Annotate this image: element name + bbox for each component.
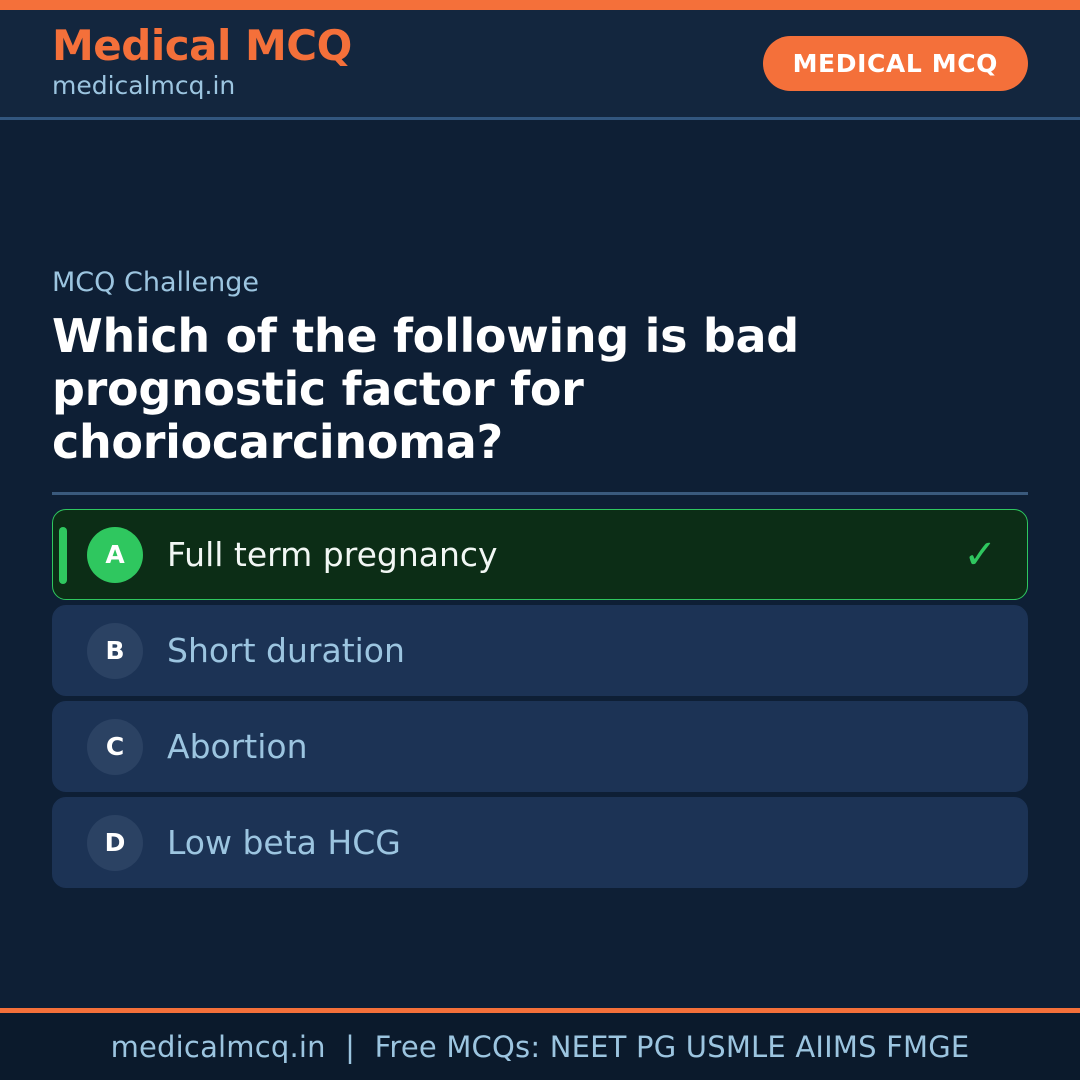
option-b[interactable]: B Short duration [52,605,1028,696]
options-list: A Full term pregnancy ✓ B Short duration… [52,509,1028,888]
option-letter-badge: A [87,527,143,583]
footer-links-label: Free MCQs: NEET PG USMLE AIIMS FMGE [375,1030,970,1064]
question-text: Which of the following is bad prognostic… [52,310,912,469]
section-kicker: MCQ Challenge [52,267,1028,299]
brand-block: Medical MCQ medicalmcq.in [52,24,352,103]
brand-subtitle: medicalmcq.in [52,70,352,103]
footer-site: medicalmcq.in [111,1030,326,1064]
header: Medical MCQ medicalmcq.in MEDICAL MCQ [0,10,1080,120]
top-accent-bar [0,0,1080,10]
footer-separator: | [335,1030,365,1064]
header-badge: MEDICAL MCQ [763,36,1028,91]
option-label: Full term pregnancy [167,535,963,575]
brand-title: Medical MCQ [52,24,352,68]
main-content: MCQ Challenge Which of the following is … [0,120,1080,1008]
correct-accent-bar [59,527,67,584]
footer: medicalmcq.in | Free MCQs: NEET PG USMLE… [0,1008,1080,1080]
option-letter-badge: C [87,719,143,775]
option-d[interactable]: D Low beta HCG [52,797,1028,888]
option-label: Abortion [167,727,997,767]
question-divider [52,492,1028,495]
mcq-card: Medical MCQ medicalmcq.in MEDICAL MCQ MC… [0,0,1080,1080]
option-letter-badge: B [87,623,143,679]
check-icon: ✓ [963,535,997,575]
option-a[interactable]: A Full term pregnancy ✓ [52,509,1028,600]
option-c[interactable]: C Abortion [52,701,1028,792]
option-letter-badge: D [87,815,143,871]
option-label: Low beta HCG [167,823,997,863]
footer-text: medicalmcq.in | Free MCQs: NEET PG USMLE… [111,1030,970,1064]
option-label: Short duration [167,631,997,671]
